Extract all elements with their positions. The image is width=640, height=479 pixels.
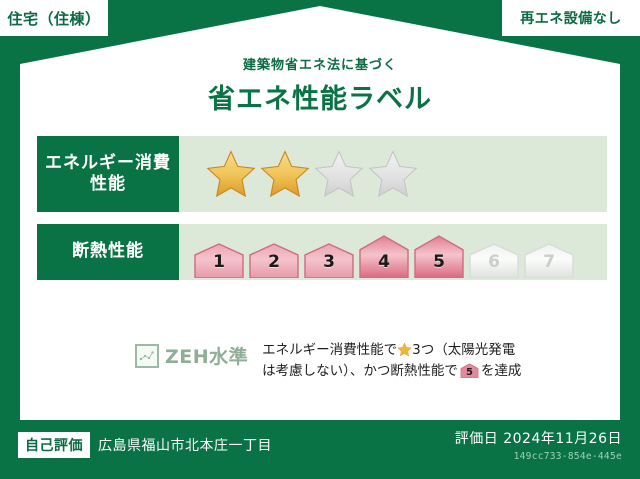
- renewable-equipment-tag: 再エネ設備なし: [502, 0, 640, 36]
- energy-performance-label: 住宅（住棟） 再エネ設備なし 建築物省エネ法に基づく 省エネ性能ラベル エネルギ…: [0, 0, 640, 479]
- label-footer: 自己評価 広島県福山市北本庄一丁目 評価日 2024年11月26日 149cc7…: [0, 420, 640, 479]
- performance-rows: エネルギー消費性能 断熱性能 1234567: [37, 136, 607, 292]
- zeh-mark-label: ZEH水準: [165, 342, 248, 369]
- insulation-level-4: 4: [358, 232, 410, 278]
- star-filled-icon: [259, 148, 311, 200]
- zeh-note-text: エネルギー消費性能で3つ（太陽光発電 は考慮しない）、かつ断熱性能で5を達成: [262, 336, 521, 382]
- star-icon: [397, 342, 412, 357]
- building-type-tag: 住宅（住棟）: [0, 0, 108, 36]
- label-id: 149cc733-854e-445e: [455, 451, 622, 462]
- insulation-level-2: 2: [248, 232, 300, 278]
- self-evaluation-badge: 自己評価: [18, 432, 90, 458]
- heading-subtitle: 建築物省エネ法に基づく: [0, 54, 640, 73]
- insulation-level-number: 5: [413, 252, 465, 272]
- property-address: 広島県福山市北本庄一丁目: [98, 435, 272, 455]
- insulation-level-number: 4: [358, 252, 410, 272]
- star-rating: [179, 136, 607, 212]
- insulation-level-number: 2: [248, 252, 300, 272]
- insulation-level-number: 1: [193, 252, 245, 272]
- zeh-note: ZEH水準 エネルギー消費性能で3つ（太陽光発電 は考慮しない）、かつ断熱性能で…: [37, 336, 607, 382]
- zeh-note-line1-b: 3つ（太陽光発電: [412, 342, 515, 358]
- insulation-level-5: 5: [413, 232, 465, 278]
- energy-performance-row: エネルギー消費性能: [37, 136, 607, 212]
- evaluation-date: 評価日 2024年11月26日: [455, 428, 622, 448]
- star-filled-icon: [205, 148, 257, 200]
- zeh-note-line1-a: エネルギー消費性能で: [262, 342, 397, 358]
- inline-house-level: 5: [460, 368, 479, 378]
- insulation-level-number: 3: [303, 252, 355, 272]
- zeh-mark: ZEH水準: [135, 342, 248, 369]
- energy-performance-label: エネルギー消費性能: [37, 136, 179, 212]
- star-empty-icon: [367, 148, 419, 200]
- insulation-level-3: 3: [303, 232, 355, 278]
- star-empty-icon: [313, 148, 365, 200]
- zeh-chart-icon: [135, 344, 159, 368]
- insulation-performance-label: 断熱性能: [37, 224, 179, 280]
- inline-house-badge: 5: [460, 363, 479, 378]
- insulation-level-7: 7: [523, 232, 575, 278]
- label-heading: 建築物省エネ法に基づく 省エネ性能ラベル: [0, 54, 640, 116]
- page-title: 省エネ性能ラベル: [0, 77, 640, 116]
- insulation-level-1: 1: [193, 232, 245, 278]
- zeh-note-line2-b: を達成: [481, 363, 522, 379]
- insulation-level-badges: 1234567: [193, 232, 575, 278]
- insulation-level-number: 6: [468, 252, 520, 272]
- insulation-performance-row: 断熱性能 1234567: [37, 224, 607, 280]
- insulation-level-6: 6: [468, 232, 520, 278]
- zeh-note-line2-a: は考慮しない）、かつ断熱性能で: [262, 363, 458, 379]
- insulation-level-number: 7: [523, 252, 575, 272]
